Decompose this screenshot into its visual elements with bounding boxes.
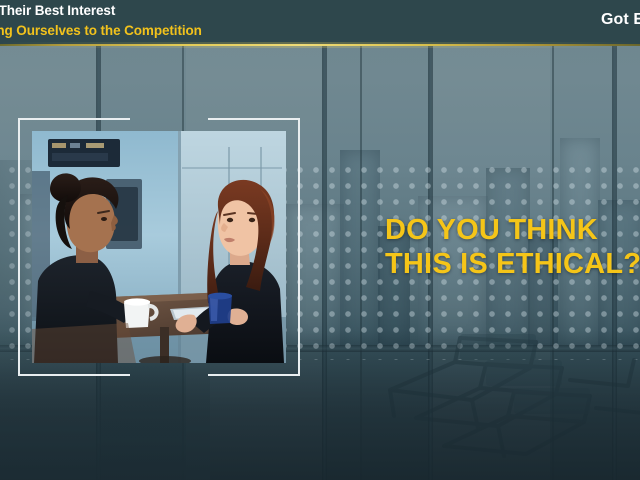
frame-border-bottom-right	[208, 374, 300, 376]
frame-border-top-left	[18, 118, 130, 120]
headline-line-2: THIS IS ETHICAL?	[385, 247, 635, 281]
slide-canvas: DO YOU THINK THIS IS ETHICAL? 't in Thei…	[0, 0, 640, 480]
title-line-2: paring Ourselves to the Competition	[0, 21, 202, 40]
frame-border-left	[18, 118, 20, 376]
frame-border-right	[298, 118, 300, 376]
gold-divider	[0, 44, 640, 46]
frame-border-top-right	[208, 118, 300, 120]
conversation-photo	[32, 131, 286, 363]
title-bar-text: 't in Their Best Interest paring Ourselv…	[0, 1, 202, 40]
headline-line-1: DO YOU THINK	[385, 213, 635, 247]
photo-frame	[18, 118, 300, 376]
title-line-1: 't in Their Best Interest	[0, 1, 202, 20]
brand-label: Got Ethi	[601, 11, 640, 29]
frame-border-bottom-left	[18, 374, 130, 376]
headline-block: DO YOU THINK THIS IS ETHICAL?	[385, 213, 635, 281]
title-bar: 't in Their Best Interest paring Ourselv…	[0, 0, 640, 45]
